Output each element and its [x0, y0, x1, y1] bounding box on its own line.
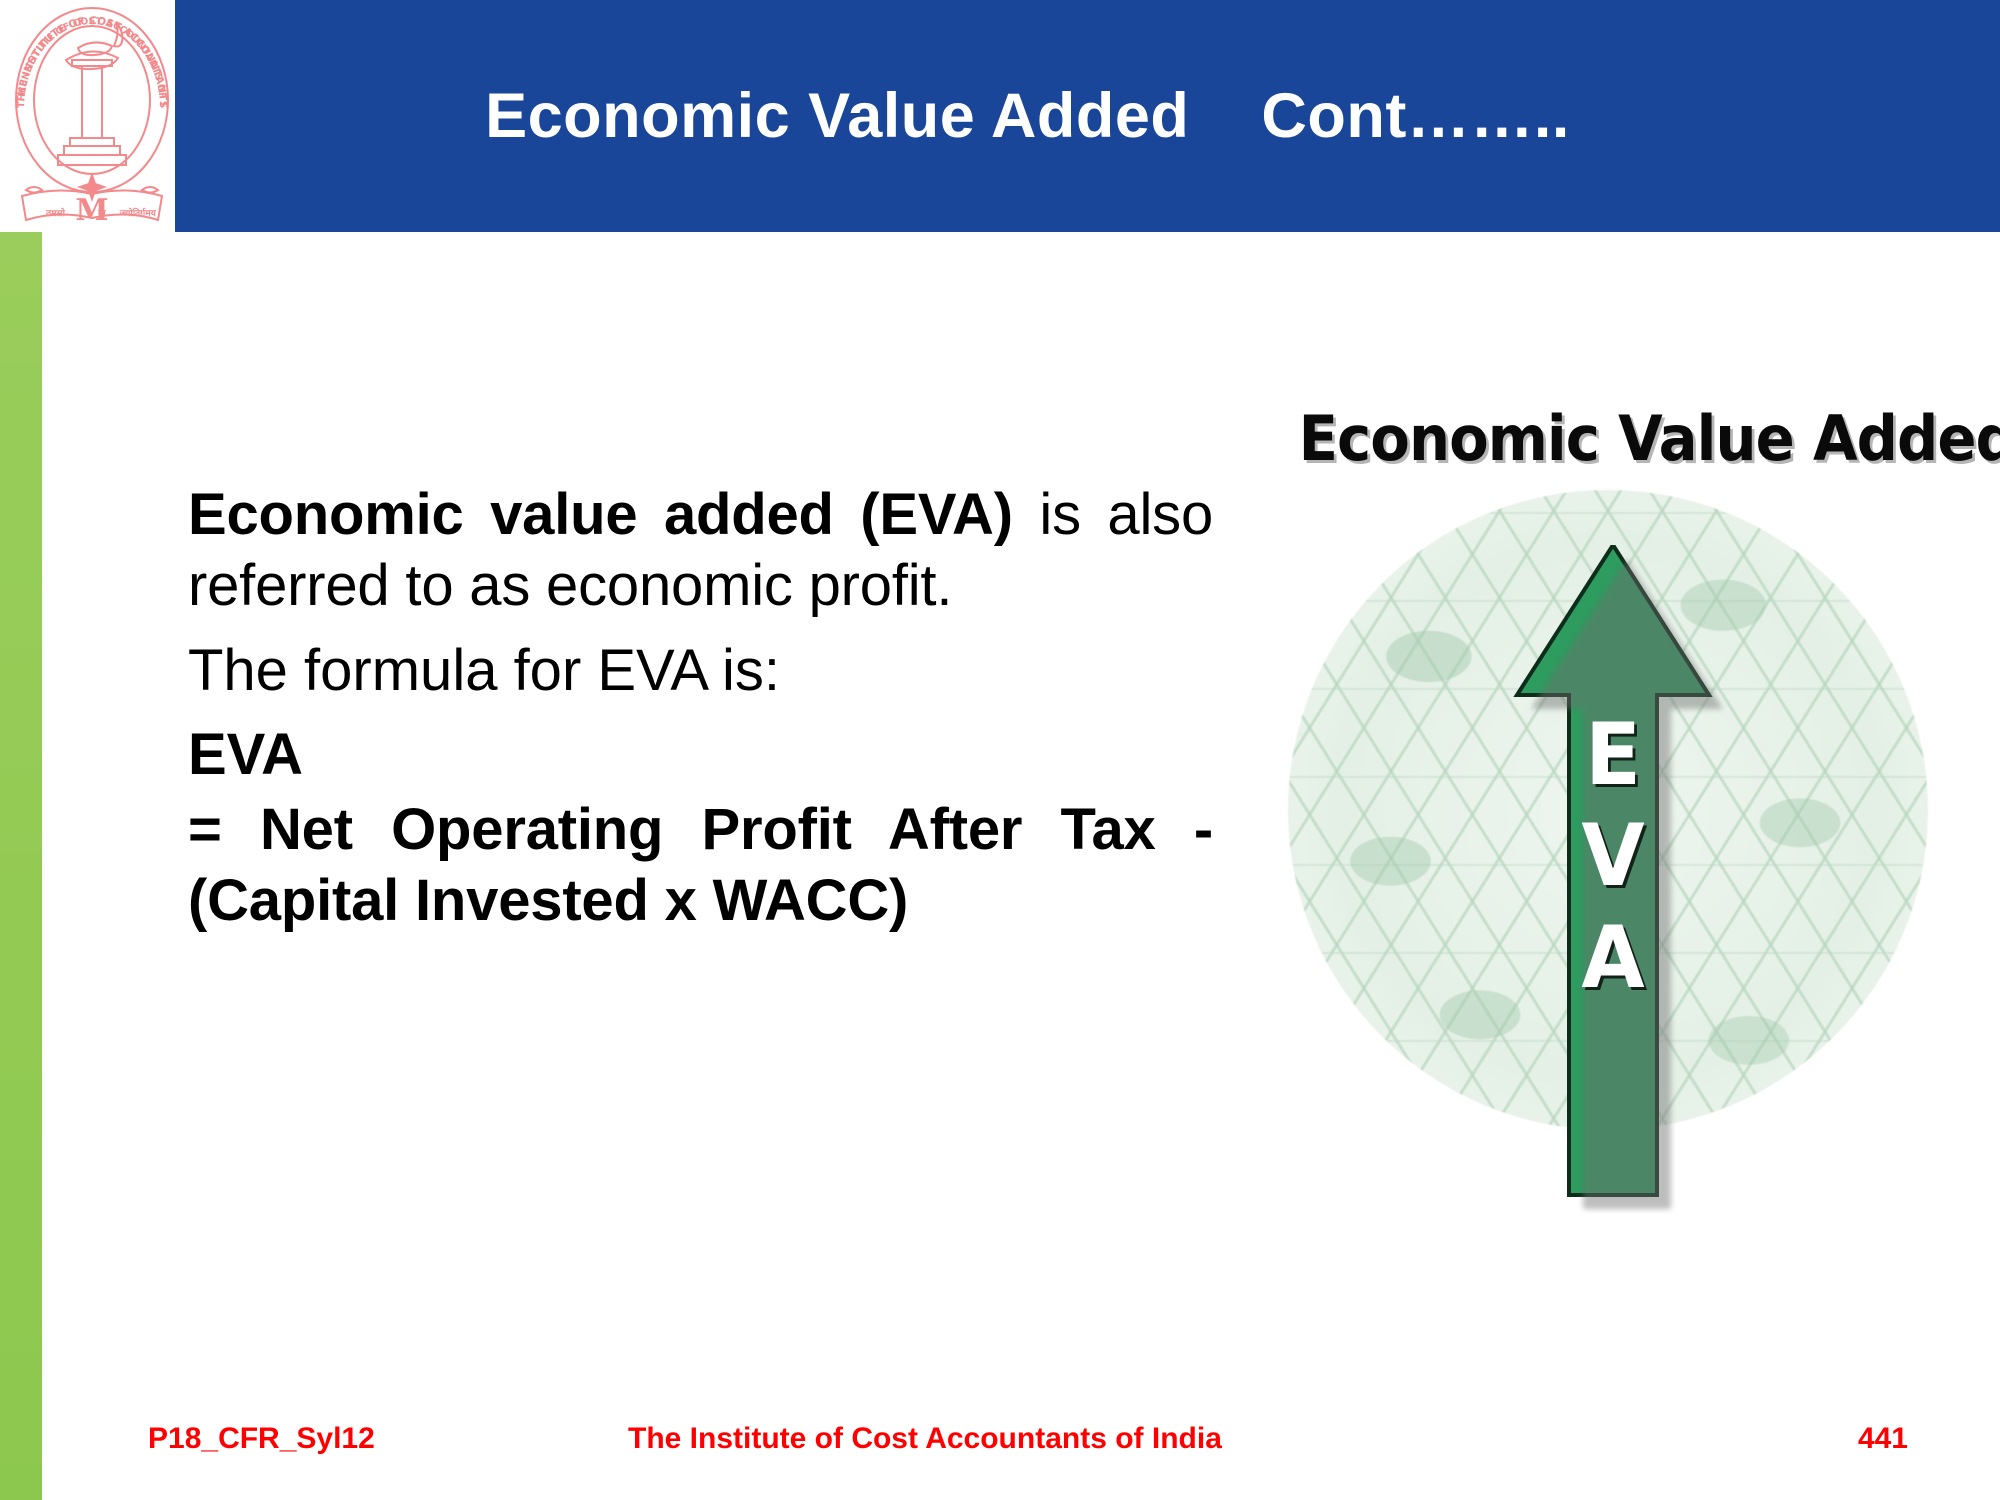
body-content: Economic value added (EVA) is also refer…: [188, 480, 1213, 945]
footer-course-code: P18_CFR_Syl12: [148, 1422, 375, 1456]
illustration-title: Economic Value Added: [1299, 402, 1899, 475]
svg-text:THE INSTITUTE OF COST ACCOUNTA: THE INSTITUTE OF COST ACCOUNTANTS OF IND…: [8, 4, 169, 109]
institute-logo: तमसो मा ज्योतिर्गमय M THE INSTITUTE OF C…: [8, 4, 176, 230]
page-title: Economic Value Added Cont……..: [175, 0, 2000, 232]
svg-text:ज्योतिर्गमय: ज्योतिर्गमय: [119, 207, 157, 219]
paragraph-definition-bold: Economic value added (EVA): [188, 482, 1013, 547]
footer-page-number: 441: [1858, 1422, 1908, 1456]
footer: P18_CFR_Syl12 The Institute of Cost Acco…: [0, 1422, 2000, 1472]
arrow-letter-a: A: [1518, 908, 1708, 1009]
svg-text:तमसो: तमसो: [45, 207, 66, 219]
green-up-arrow-icon: E V A: [1513, 545, 1713, 1205]
arrow-letters: E V A: [1513, 705, 1713, 1009]
svg-text:M: M: [75, 193, 108, 228]
formula-label: EVA: [188, 720, 1213, 791]
paragraph-formula-intro: The formula for EVA is:: [188, 636, 1213, 707]
eva-illustration: Economic Value Added E V A: [1258, 330, 1938, 1250]
arrow-letter-e: E: [1518, 705, 1708, 806]
arrow-letter-v: V: [1518, 806, 1708, 907]
paragraph-definition: Economic value added (EVA) is also refer…: [188, 480, 1213, 622]
slide: Economic Value Added Cont……..: [0, 0, 2000, 1500]
formula-expression: = Net Operating Profit After Tax - (Capi…: [188, 795, 1213, 937]
left-accent-stripe: [0, 232, 42, 1500]
footer-institute-name: The Institute of Cost Accountants of Ind…: [628, 1422, 1222, 1456]
